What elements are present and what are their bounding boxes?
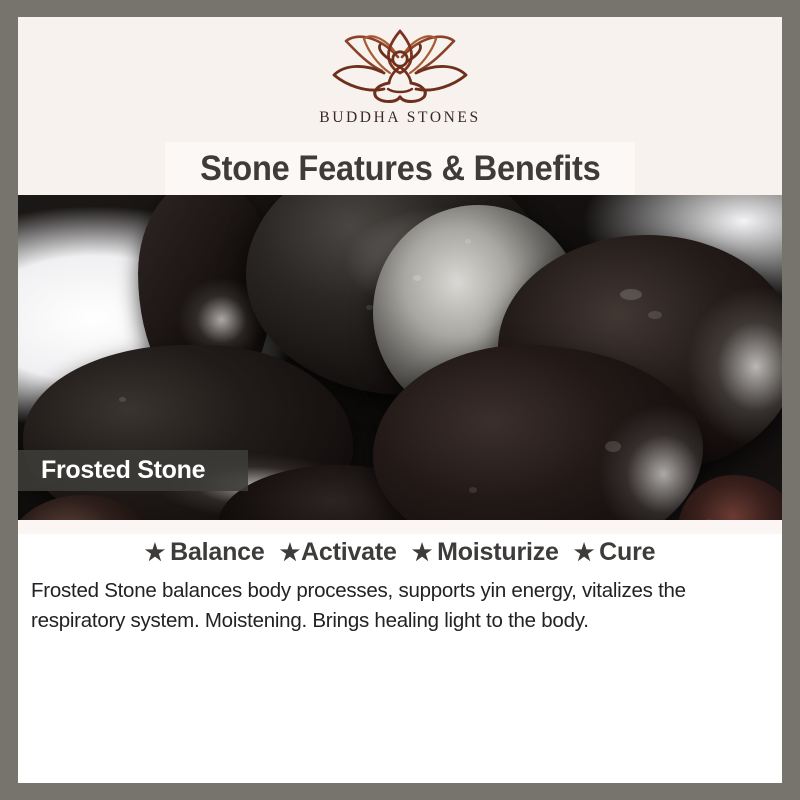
benefit-label: Moisturize <box>437 538 559 567</box>
infographic-card: BUDDHA STONES Stone Features & Benefits <box>18 17 782 783</box>
benefit-label: Cure <box>599 538 655 567</box>
content-section: ★ Balance ★ Activate ★ Moisturize ★ Cure… <box>18 520 782 783</box>
benefit-item-balance: ★ Balance <box>145 538 265 567</box>
outer-frame: BUDDHA STONES Stone Features & Benefits <box>0 0 800 800</box>
stone-photo: Frosted Stone <box>18 195 782 520</box>
page-title: Stone Features & Benefits <box>200 149 601 189</box>
benefit-item-activate: ★ Activate <box>280 538 397 567</box>
photo-caption-banner: Frosted Stone <box>18 450 248 491</box>
content-top-tint <box>18 520 782 534</box>
header-section: BUDDHA STONES Stone Features & Benefits <box>18 17 782 195</box>
benefit-item-moisturize: ★ Moisturize <box>412 538 559 567</box>
lotus-meditation-icon <box>320 27 480 107</box>
star-icon: ★ <box>412 541 432 564</box>
benefits-row: ★ Balance ★ Activate ★ Moisturize ★ Cure <box>18 538 782 567</box>
photo-caption-text: Frosted Stone <box>41 456 205 485</box>
star-icon: ★ <box>574 541 594 564</box>
benefit-label: Activate <box>301 538 397 567</box>
benefit-item-cure: ★ Cure <box>574 538 656 567</box>
title-banner: Stone Features & Benefits <box>165 142 635 195</box>
star-icon: ★ <box>145 541 165 564</box>
brand-name: BUDDHA STONES <box>319 109 480 127</box>
benefit-label: Balance <box>170 538 265 567</box>
brand-logo: BUDDHA STONES <box>18 27 782 142</box>
description-text: Frosted Stone balances body processes, s… <box>31 576 776 636</box>
star-icon: ★ <box>280 541 300 564</box>
